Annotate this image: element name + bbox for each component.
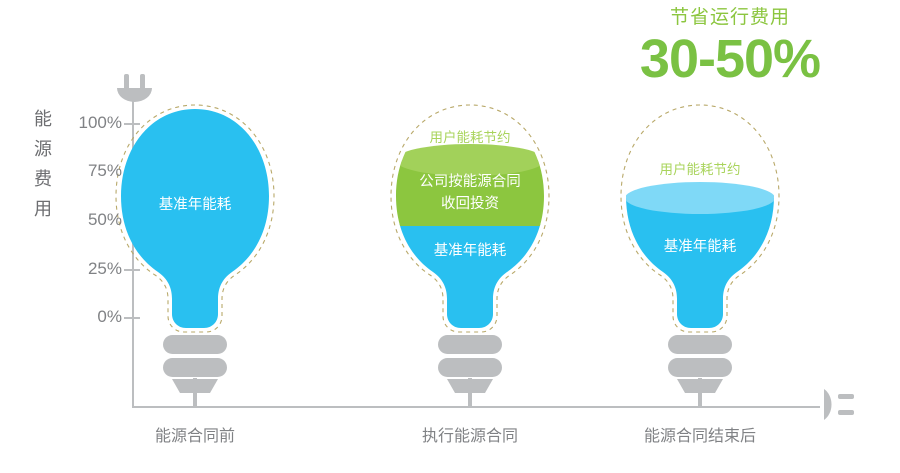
bulb3-base <box>668 335 732 393</box>
bulb3-surface-ellipse <box>625 182 775 214</box>
bulb2-base <box>438 335 502 393</box>
plug-icon-top <box>117 74 152 102</box>
bulb1-fill <box>100 109 300 349</box>
y-axis-title: 能源费用 <box>30 105 56 225</box>
plug-icon-right <box>824 389 854 420</box>
bulb1-base <box>163 335 227 393</box>
y-tick-label-0: 0% <box>64 307 122 327</box>
y-tick-label-100: 100% <box>64 113 122 133</box>
bulb1-segment-label-baseline: 基准年能耗 <box>95 194 295 216</box>
x-category-label-3: 能源合同结束后 <box>600 422 800 446</box>
y-tick-label-75: 75% <box>64 161 122 181</box>
x-axis-ticks <box>195 386 700 407</box>
bulb2-segment-label-company: 公司按能源合同 收回投资 <box>370 171 570 215</box>
infographic-canvas: 节省运行费用 30-50% <box>0 0 900 473</box>
bulb3-savings-label: 用户能耗节约 <box>600 160 800 180</box>
bulb3-segment-label-baseline: 基准年能耗 <box>600 236 800 258</box>
x-category-label-1: 能源合同前 <box>95 422 295 446</box>
bulb3-fill <box>610 182 810 354</box>
bulb-before-contract <box>100 105 300 407</box>
bulb2-savings-label: 用户能耗节约 <box>370 128 570 148</box>
bulb2-segment-label-baseline: 基准年能耗 <box>370 240 570 262</box>
y-tick-label-25: 25% <box>64 259 122 279</box>
x-category-label-2: 执行能源合同 <box>370 422 570 446</box>
